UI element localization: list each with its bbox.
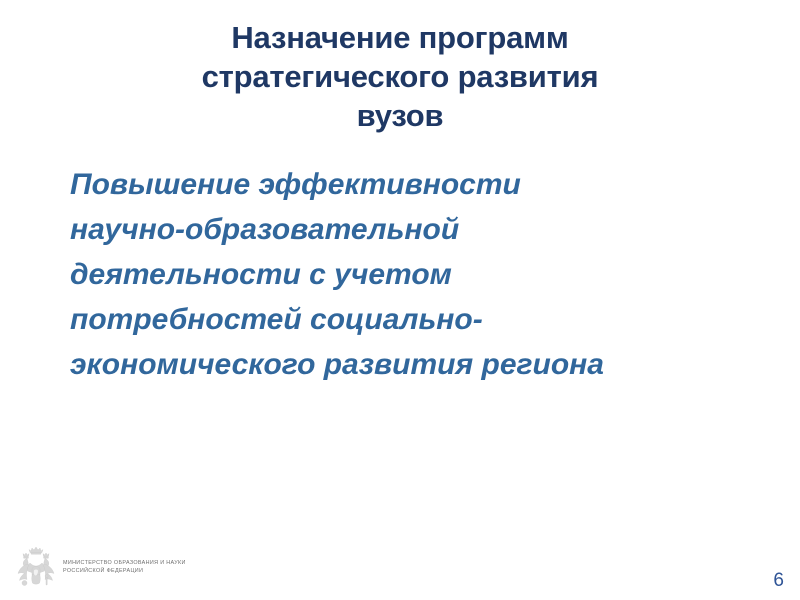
slide-title-line-1: Назначение программ: [96, 18, 704, 57]
slide-body-line-4: потребностей социально-: [70, 297, 786, 342]
ministry-caption-line-2: РОССИЙСКОЙ ФЕДЕРАЦИИ: [63, 568, 186, 576]
slide-body-line-5: экономического развития региона: [70, 342, 786, 387]
slide-body-line-2: научно-образовательной: [70, 207, 786, 252]
slide-body-line-3: деятельности с учетом: [70, 252, 786, 297]
presentation-slide: Назначение программ стратегического разв…: [0, 0, 800, 600]
page-number: 6: [773, 570, 784, 592]
slide-body-line-1: Повышение эффективности: [70, 162, 786, 207]
slide-title-line-3: вузов: [96, 96, 704, 135]
slide-body-text: Повышение эффективности научно-образоват…: [70, 162, 786, 387]
footer: МИНИСТЕРСТВО ОБРАЗОВАНИЯ И НАУКИ РОССИЙС…: [16, 544, 186, 590]
ministry-caption: МИНИСТЕРСТВО ОБРАЗОВАНИЯ И НАУКИ РОССИЙС…: [63, 558, 186, 575]
russian-coat-of-arms-icon: [16, 544, 56, 590]
slide-title-line-2: стратегического развития: [96, 57, 704, 96]
slide-title: Назначение программ стратегического разв…: [96, 18, 704, 135]
ministry-caption-line-1: МИНИСТЕРСТВО ОБРАЗОВАНИЯ И НАУКИ: [63, 560, 186, 568]
